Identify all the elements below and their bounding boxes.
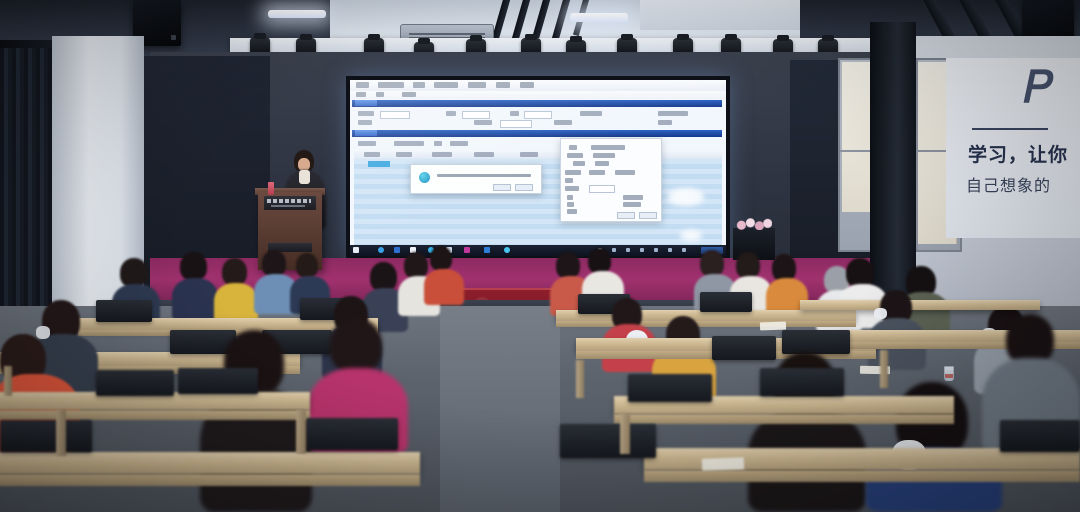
toolbar-label [450, 141, 468, 146]
tray-icon[interactable] [668, 248, 672, 252]
seat-middle [782, 330, 850, 354]
desk-leg [4, 366, 12, 396]
podium-nameplate-text [267, 199, 311, 203]
section-header-bar-2 [352, 130, 722, 137]
section-header-bar-1 [352, 100, 722, 107]
handout-paper [760, 322, 786, 331]
menu-item[interactable] [496, 82, 510, 88]
panel-ok-button[interactable] [617, 212, 635, 219]
column-header[interactable] [474, 152, 494, 157]
desk-leg [880, 350, 888, 388]
ceiling-panel-white-upper [640, 0, 800, 30]
section-tab[interactable] [355, 100, 377, 106]
panel-value [591, 145, 625, 150]
poster-figure-icon: 𝑃 [1024, 62, 1064, 114]
detail-form-panel[interactable] [560, 138, 662, 222]
panel-label [567, 195, 573, 200]
face-mask [874, 308, 887, 319]
menu-item[interactable] [413, 82, 425, 88]
attendee-head [556, 252, 580, 279]
attendee-head [180, 252, 207, 281]
app-menubar[interactable] [350, 80, 726, 91]
start-button-icon[interactable] [353, 247, 359, 253]
poster-line-1: 学习，让你 [968, 140, 1068, 167]
seat-back [700, 292, 752, 312]
desk-leg [296, 410, 306, 454]
poster-line-2: 自己想象的 [966, 172, 1051, 196]
field-label [358, 111, 374, 116]
field-label [510, 111, 519, 116]
panel-label [569, 145, 577, 150]
attendee-head [700, 250, 724, 277]
desk-row-back-right-2 [800, 300, 1040, 310]
tray-icon[interactable] [640, 248, 644, 252]
panel-label [567, 153, 583, 158]
toolbar-label [434, 141, 442, 146]
drinking-cup [944, 366, 954, 381]
seat-middle [712, 336, 776, 360]
field-label [446, 111, 456, 116]
attendee-head [222, 258, 247, 286]
center-aisle [440, 306, 560, 512]
info-icon [419, 172, 430, 183]
handout-paper [702, 457, 744, 470]
dialog-confirm-button[interactable] [493, 184, 511, 191]
lecture-hall-photo: 𝑃 学习，让你 自己想象的 [0, 0, 1080, 512]
desk-front [0, 474, 420, 486]
panel-label [565, 178, 573, 183]
attendee-head [736, 252, 760, 279]
attendee-head [404, 252, 428, 279]
selected-cell[interactable] [368, 161, 390, 167]
field-label [554, 120, 572, 125]
toolbar-label [394, 141, 424, 146]
panel-value [615, 170, 635, 175]
panel-label [565, 186, 579, 191]
field-label [580, 111, 602, 116]
app-toolbar[interactable] [350, 91, 726, 99]
attendee-head [296, 253, 318, 278]
column-header[interactable] [520, 152, 538, 157]
form-row [358, 120, 718, 126]
screen-glare [668, 188, 704, 206]
dialog-message [437, 174, 531, 177]
seat-front [1000, 420, 1080, 452]
desk-leg [576, 360, 584, 398]
attendee-head [430, 246, 452, 271]
podium-nameplate [264, 196, 316, 210]
menu-item[interactable] [378, 82, 404, 88]
taskbar-app-icon[interactable] [378, 247, 384, 253]
attendee-head [262, 250, 286, 277]
ceiling-tube-center [570, 13, 628, 22]
poster-divider [972, 128, 1048, 130]
seat-back [96, 300, 152, 322]
column-header[interactable] [364, 152, 380, 157]
panel-value [623, 195, 643, 200]
water-bottle [268, 182, 274, 195]
seat-front [560, 424, 656, 458]
seat-front [760, 368, 844, 396]
field-label [474, 120, 492, 125]
screen-glare [680, 230, 702, 241]
taskbar-app-icon[interactable] [394, 247, 400, 253]
column-header[interactable] [432, 152, 452, 157]
tray-icon[interactable] [682, 248, 686, 252]
panel-close-button[interactable] [639, 212, 657, 219]
ceiling-tube-left [268, 10, 326, 18]
desk-front [556, 321, 856, 327]
field-input[interactable] [462, 111, 490, 119]
desk-front [644, 470, 1080, 482]
desk-leg [620, 414, 630, 454]
toolbar-label [358, 141, 376, 146]
windows-taskbar[interactable] [350, 245, 726, 256]
menu-item[interactable] [468, 82, 486, 88]
panel-value [593, 153, 615, 158]
section-tab[interactable] [355, 130, 377, 136]
dialog-cancel-button[interactable] [515, 184, 533, 191]
field-input[interactable] [524, 111, 552, 119]
panel-label [565, 170, 581, 175]
seat-front [306, 418, 398, 450]
desk-leg [56, 410, 66, 456]
panel-value [595, 161, 609, 166]
flower-arrangement [736, 218, 772, 230]
projection-screen[interactable] [350, 80, 726, 256]
panel-label [573, 161, 585, 166]
panel-label [567, 202, 574, 207]
field-input[interactable] [380, 111, 410, 119]
field-label [658, 111, 688, 116]
window-mullion [916, 60, 918, 250]
attendee-body [214, 283, 258, 323]
column-header[interactable] [396, 152, 412, 157]
panel-value [623, 202, 641, 207]
field-label [658, 120, 672, 125]
form-row [358, 111, 718, 117]
menu-item[interactable] [356, 82, 369, 88]
seat-front [628, 374, 712, 402]
desk-front [614, 414, 954, 424]
taskbar-app-icon[interactable] [484, 247, 490, 253]
tray-icon[interactable] [654, 248, 658, 252]
seat-front [96, 370, 174, 396]
face-mask [36, 326, 50, 339]
podium-nameplate-subtext [271, 205, 305, 207]
attendee-head [330, 318, 382, 374]
panel-input[interactable] [589, 185, 615, 193]
menu-item[interactable] [434, 82, 458, 88]
field-label [358, 120, 372, 125]
attendee-body [172, 278, 218, 320]
toolbar-item[interactable] [356, 92, 366, 97]
tray-icon[interactable] [626, 248, 630, 252]
menu-item[interactable] [520, 82, 534, 88]
field-input[interactable] [500, 120, 532, 128]
grid-toolbar [358, 141, 718, 147]
tray-icon[interactable] [612, 248, 616, 252]
attendee-body [424, 269, 464, 305]
panel-value [589, 170, 605, 175]
panel-label [567, 209, 577, 214]
taskbar-app-icon[interactable] [464, 247, 470, 253]
confirmation-dialog[interactable] [410, 164, 542, 194]
toolbar-item[interactable] [376, 92, 384, 97]
taskbar-app-icon[interactable] [504, 247, 510, 253]
desk-front [0, 410, 310, 420]
seat-front [0, 420, 92, 452]
toolbar-item[interactable] [402, 92, 416, 97]
seat-front [178, 368, 258, 394]
presenter-scarf [299, 170, 310, 184]
